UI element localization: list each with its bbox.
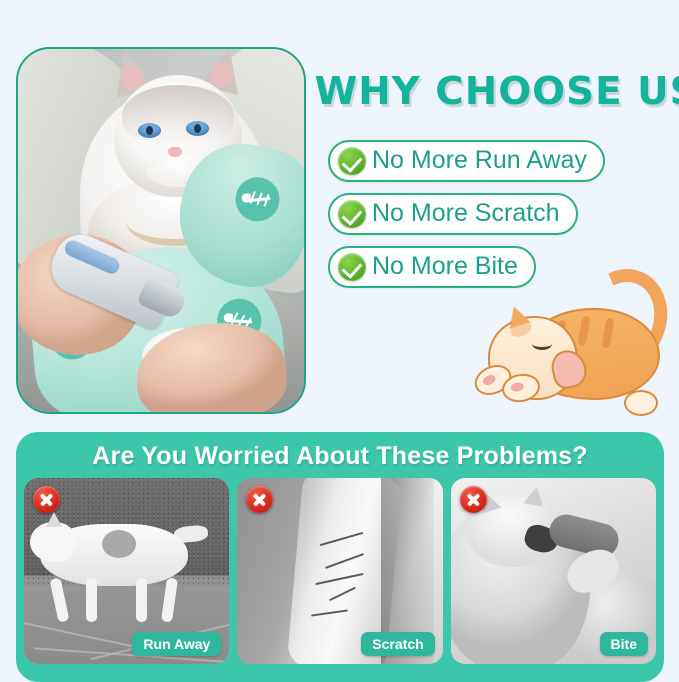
page-title: WHY CHOOSE US? xyxy=(314,72,677,110)
fishbone-print-icon xyxy=(234,176,281,223)
x-circle-icon xyxy=(33,486,60,513)
problem-tag-scratch: Scratch xyxy=(361,632,434,656)
cat-nose xyxy=(168,147,182,157)
mascot-closed-eye xyxy=(532,338,552,350)
infographic-root: WHY CHOOSE US? No More Run Away No More … xyxy=(0,0,679,670)
cat-face-mask-marking xyxy=(122,85,234,145)
benefit-label: No More Scratch xyxy=(372,200,560,228)
mascot-hind-foot xyxy=(624,390,658,416)
x-circle-icon xyxy=(460,486,487,513)
problem-tag-run-away: Run Away xyxy=(132,632,221,656)
problems-panel-title: Are You Worried About These Problems? xyxy=(16,442,664,471)
benefit-label: No More Run Away xyxy=(372,147,587,175)
hero-product-photo xyxy=(16,47,306,414)
problem-card-run-away: Run Away xyxy=(24,478,229,664)
benefit-item-scratch: No More Scratch xyxy=(328,193,578,235)
benefit-row: No More Run Away xyxy=(328,140,605,193)
benefit-row: No More Scratch xyxy=(328,193,605,246)
problem-card-scratch: Scratch xyxy=(237,478,442,664)
problems-panel: Are You Worried About These Problems? xyxy=(16,432,664,682)
problem-tag-bite: Bite xyxy=(600,632,648,656)
check-circle-icon xyxy=(338,200,366,228)
benefit-item-run-away: No More Run Away xyxy=(328,140,605,182)
cartoon-cat-mascot xyxy=(480,272,672,412)
problem-card-bite: Bite xyxy=(451,478,656,664)
check-circle-icon xyxy=(338,147,366,175)
check-circle-icon xyxy=(338,253,366,281)
cat-right-eye xyxy=(186,121,209,136)
cat-left-eye xyxy=(138,123,161,138)
problem-cards: Run Away Scratch xyxy=(24,478,656,664)
